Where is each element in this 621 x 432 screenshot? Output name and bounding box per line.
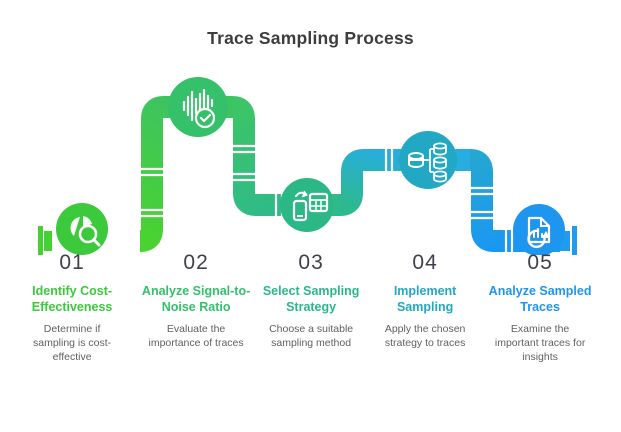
step-description: Choose a suitable sampling method — [249, 322, 373, 350]
pipeline-svg — [0, 70, 621, 255]
step-icon-4[interactable] — [399, 131, 457, 189]
step-number: 05 — [478, 250, 602, 276]
step-heading: Analyze Signal-to-Noise Ratio — [134, 284, 258, 315]
step-description: Evaluate the importance of traces — [134, 322, 258, 350]
step-heading: Implement Sampling — [363, 284, 487, 315]
step-number: 02 — [134, 250, 258, 276]
pipeline-graphic — [0, 70, 621, 255]
step-description: Examine the important traces for insight… — [478, 322, 602, 364]
step-heading: Analyze Sampled Traces — [478, 284, 602, 315]
step-icon-1[interactable] — [56, 203, 108, 255]
step-description: Determine if sampling is cost-effective — [10, 322, 134, 364]
step-item-2[interactable]: 02 Analyze Signal-to-Noise Ratio Evaluat… — [134, 250, 258, 350]
infographic-root: Trace Sampling Process — [0, 0, 621, 432]
step-item-5[interactable]: 05 Analyze Sampled Traces Examine the im… — [478, 250, 602, 364]
step-item-1[interactable]: 01 Identify Cost-Effectiveness Determine… — [10, 250, 134, 364]
step-heading: Select Sampling Strategy — [249, 284, 373, 315]
step-description: Apply the chosen strategy to traces — [363, 322, 487, 350]
step-number: 04 — [363, 250, 487, 276]
step-icon-3[interactable] — [280, 178, 334, 232]
step-number: 03 — [249, 250, 373, 276]
step-item-3[interactable]: 03 Select Sampling Strategy Choose a sui… — [249, 250, 373, 350]
step-number: 01 — [10, 250, 134, 276]
step-icon-5[interactable] — [513, 204, 565, 255]
steps-container: 01 Identify Cost-Effectiveness Determine… — [0, 250, 621, 432]
page-title: Trace Sampling Process — [0, 28, 621, 49]
step-heading: Identify Cost-Effectiveness — [10, 284, 134, 315]
step-icon-2[interactable] — [168, 77, 228, 137]
step-item-4[interactable]: 04 Implement Sampling Apply the chosen s… — [363, 250, 487, 350]
